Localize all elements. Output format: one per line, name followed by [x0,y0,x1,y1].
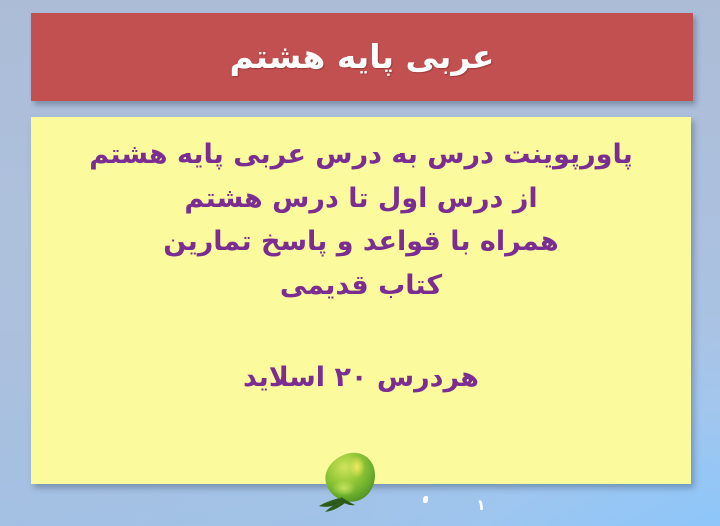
content-card: پاورپوینت درس به درس عربی پایه هشتم از د… [31,117,691,484]
content-line-3: همراه با قواعد و پاسخ تمارین [31,220,691,264]
content-text-block: پاورپوینت درس به درس عربی پایه هشتم از د… [31,133,691,400]
slide-canvas: عربی پایه هشتم پاورپوینت درس به درس عربی… [0,0,720,526]
page-number: ۱ [470,498,492,513]
white-speck-artifact [423,496,428,503]
content-line-1: پاورپوینت درس به درس عربی پایه هشتم [31,133,691,177]
content-line-2: از درس اول تا درس هشتم [31,177,691,221]
content-spacer [31,308,691,356]
green-apple-icon [318,447,382,513]
slide-title: عربی پایه هشتم [230,39,495,75]
content-footer-line: هردرس ۲۰ اسلاید [31,356,691,400]
title-banner: عربی پایه هشتم [31,13,693,101]
content-line-4: کتاب قدیمی [31,264,691,308]
